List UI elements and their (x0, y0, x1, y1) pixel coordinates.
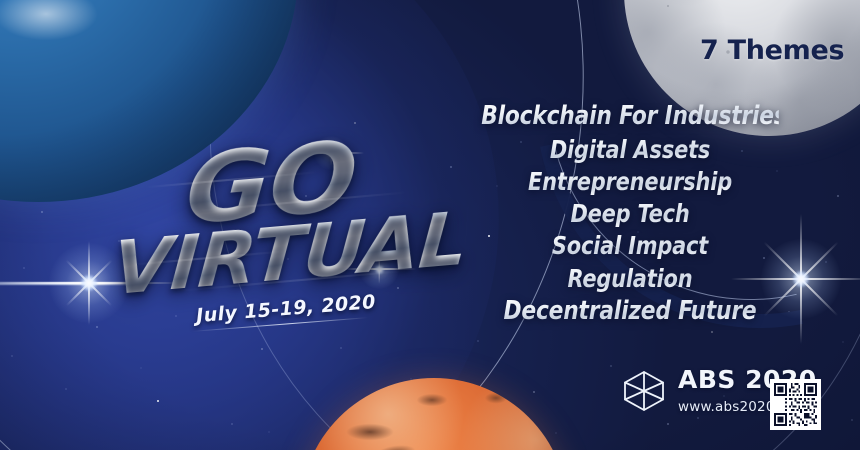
themes-count-label: 7 Themes (700, 35, 844, 66)
themes-list: Blockchain For Industries Digital Assets… (470, 100, 790, 328)
headline-virtual: VIRTUAL (110, 205, 468, 305)
theme-item-digital-assets: Digital Assets (481, 134, 779, 166)
theme-item-deep-tech: Deep Tech (481, 198, 779, 230)
theme-item-blockchain-for-industries: Blockchain For Industries (481, 100, 779, 134)
poster-canvas: GO VIRTUAL July 15-19, 2020 7 Themes Blo… (0, 0, 860, 450)
theme-item-entrepreneurship: Entrepreneurship (481, 166, 779, 198)
theme-item-decentralized-future: Decentralized Future (481, 295, 779, 329)
headline-lockup: GO VIRTUAL July 15-19, 2020 (118, 146, 458, 331)
theme-item-regulation: Regulation (481, 263, 779, 295)
theme-item-social-impact: Social Impact (481, 230, 779, 262)
abs-hexagon-logo-icon (620, 369, 668, 413)
qr-code-icon[interactable] (770, 379, 821, 430)
mars-planet-icon (300, 378, 568, 450)
